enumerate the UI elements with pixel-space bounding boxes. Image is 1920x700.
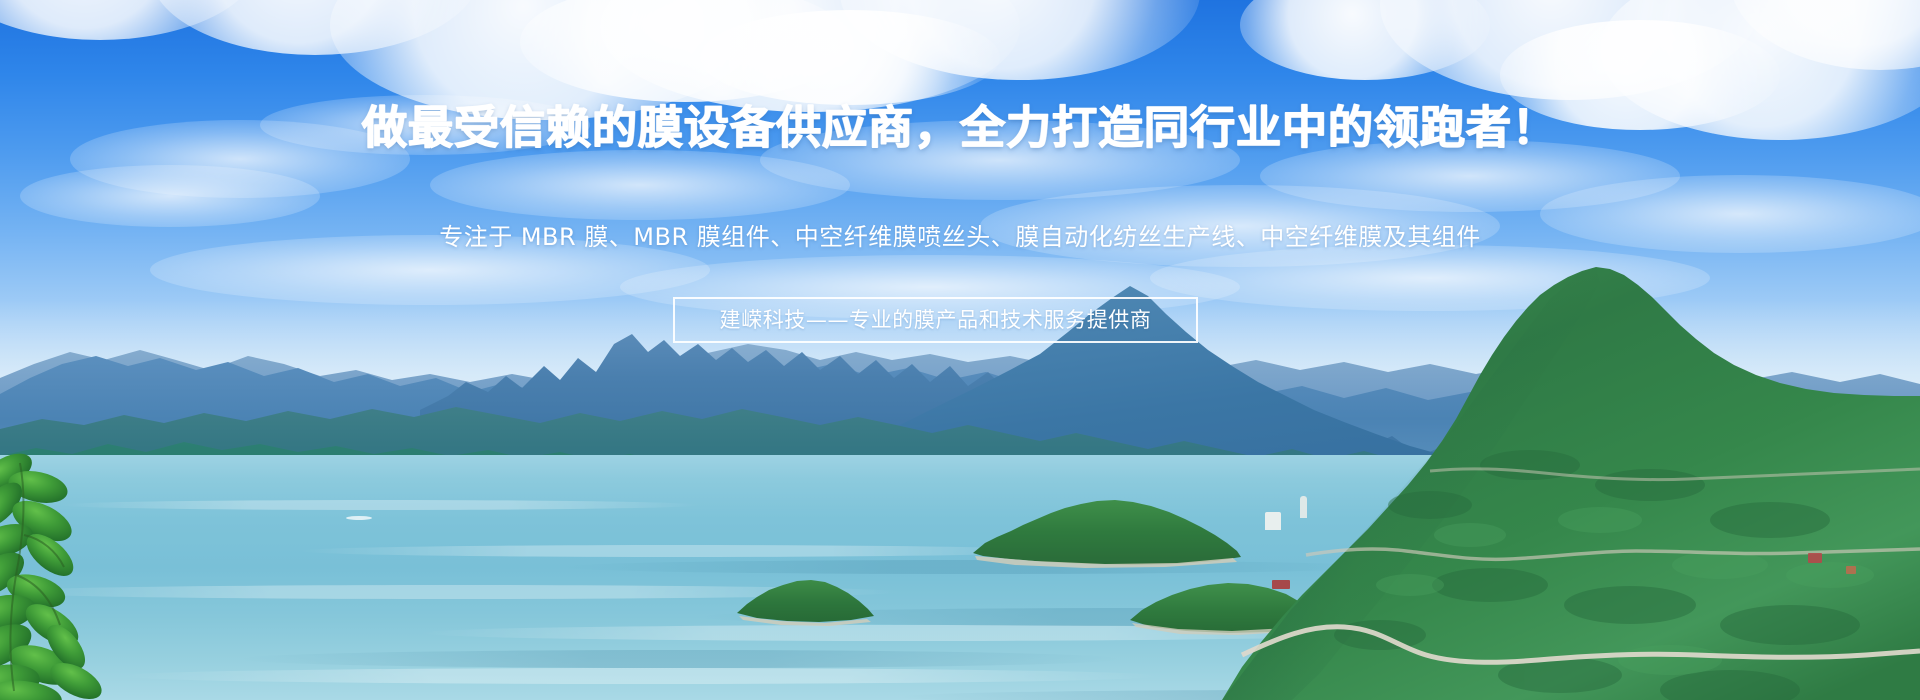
boat-wake (346, 516, 372, 520)
hillside-structure (1846, 566, 1856, 574)
hero-banner: 做最受信赖的膜设备供应商，全力打造同行业中的领跑者！ 专注于 MBR 膜、MBR… (0, 0, 1920, 700)
banner-headline: 做最受信赖的膜设备供应商，全力打造同行业中的领跑者！ (0, 103, 1920, 153)
banner-subheadline: 专注于 MBR 膜、MBR 膜组件、中空纤维膜喷丝头、膜自动化纺丝生产线、中空纤… (0, 220, 1920, 254)
banner-tagline-text: 建嵘科技——专业的膜产品和技术服务提供商 (720, 308, 1152, 332)
lakeside-building (1300, 496, 1307, 518)
foreground-foliage (0, 425, 170, 700)
island-small (733, 575, 878, 627)
lakeside-building (1265, 512, 1281, 530)
hillside-structure (1808, 553, 1822, 563)
banner-tagline-box: 建嵘科技——专业的膜产品和技术服务提供商 (673, 297, 1198, 343)
right-green-mountain (1130, 255, 1920, 700)
